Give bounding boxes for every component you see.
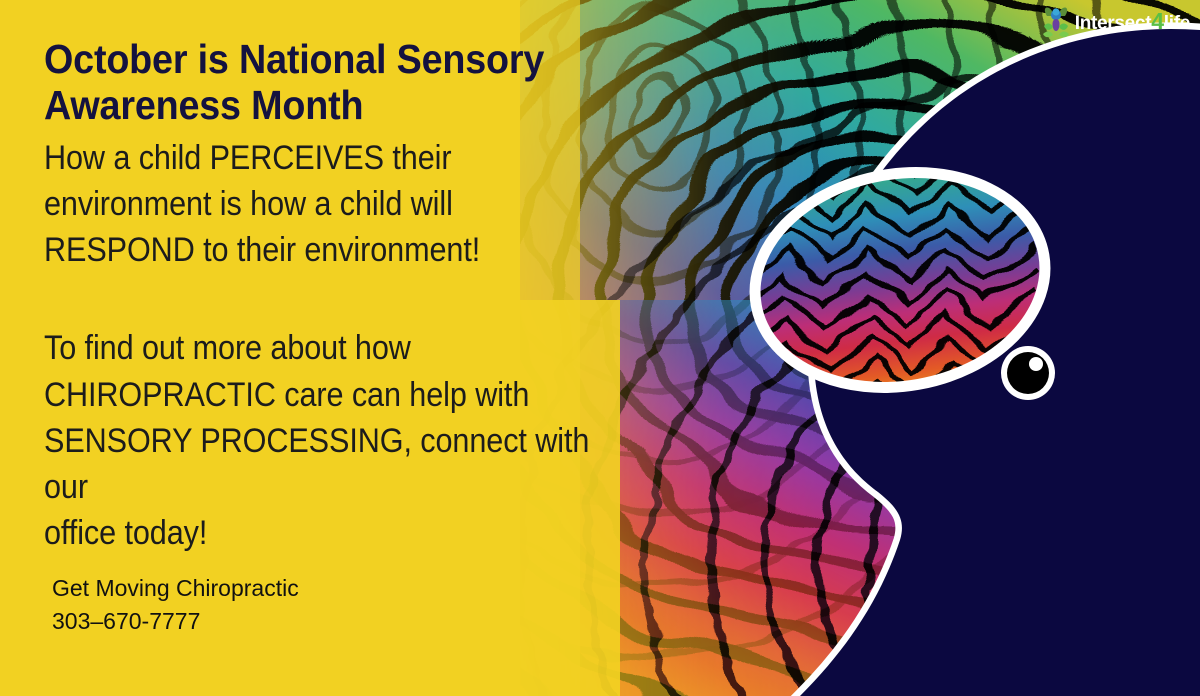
butterfly-person-icon [1041,4,1071,38]
sensory-awareness-poster: October is National Sensory Awareness Mo… [0,0,1200,696]
logo-number: 4 [1151,10,1164,33]
eye [1001,346,1055,400]
intersect4life-logo[interactable]: Intersect 4 life [1041,4,1190,38]
body-paragraph-2: To find out more about how CHIROPRACTIC … [44,325,620,556]
logo-wordmark: Intersect 4 life [1075,10,1190,33]
logo-name-part-2: life [1164,14,1190,33]
paragraph-spacer [44,273,684,325]
logo-name-part-1: Intersect [1075,14,1152,33]
body-paragraph-1: How a child PERCEIVES their environment … [44,135,620,274]
contact-info: Get Moving Chiropractic 303–670-7777 [52,572,299,637]
poster-copy: October is National Sensory Awareness Mo… [44,36,684,557]
page-title: October is National Sensory Awareness Mo… [44,36,633,129]
